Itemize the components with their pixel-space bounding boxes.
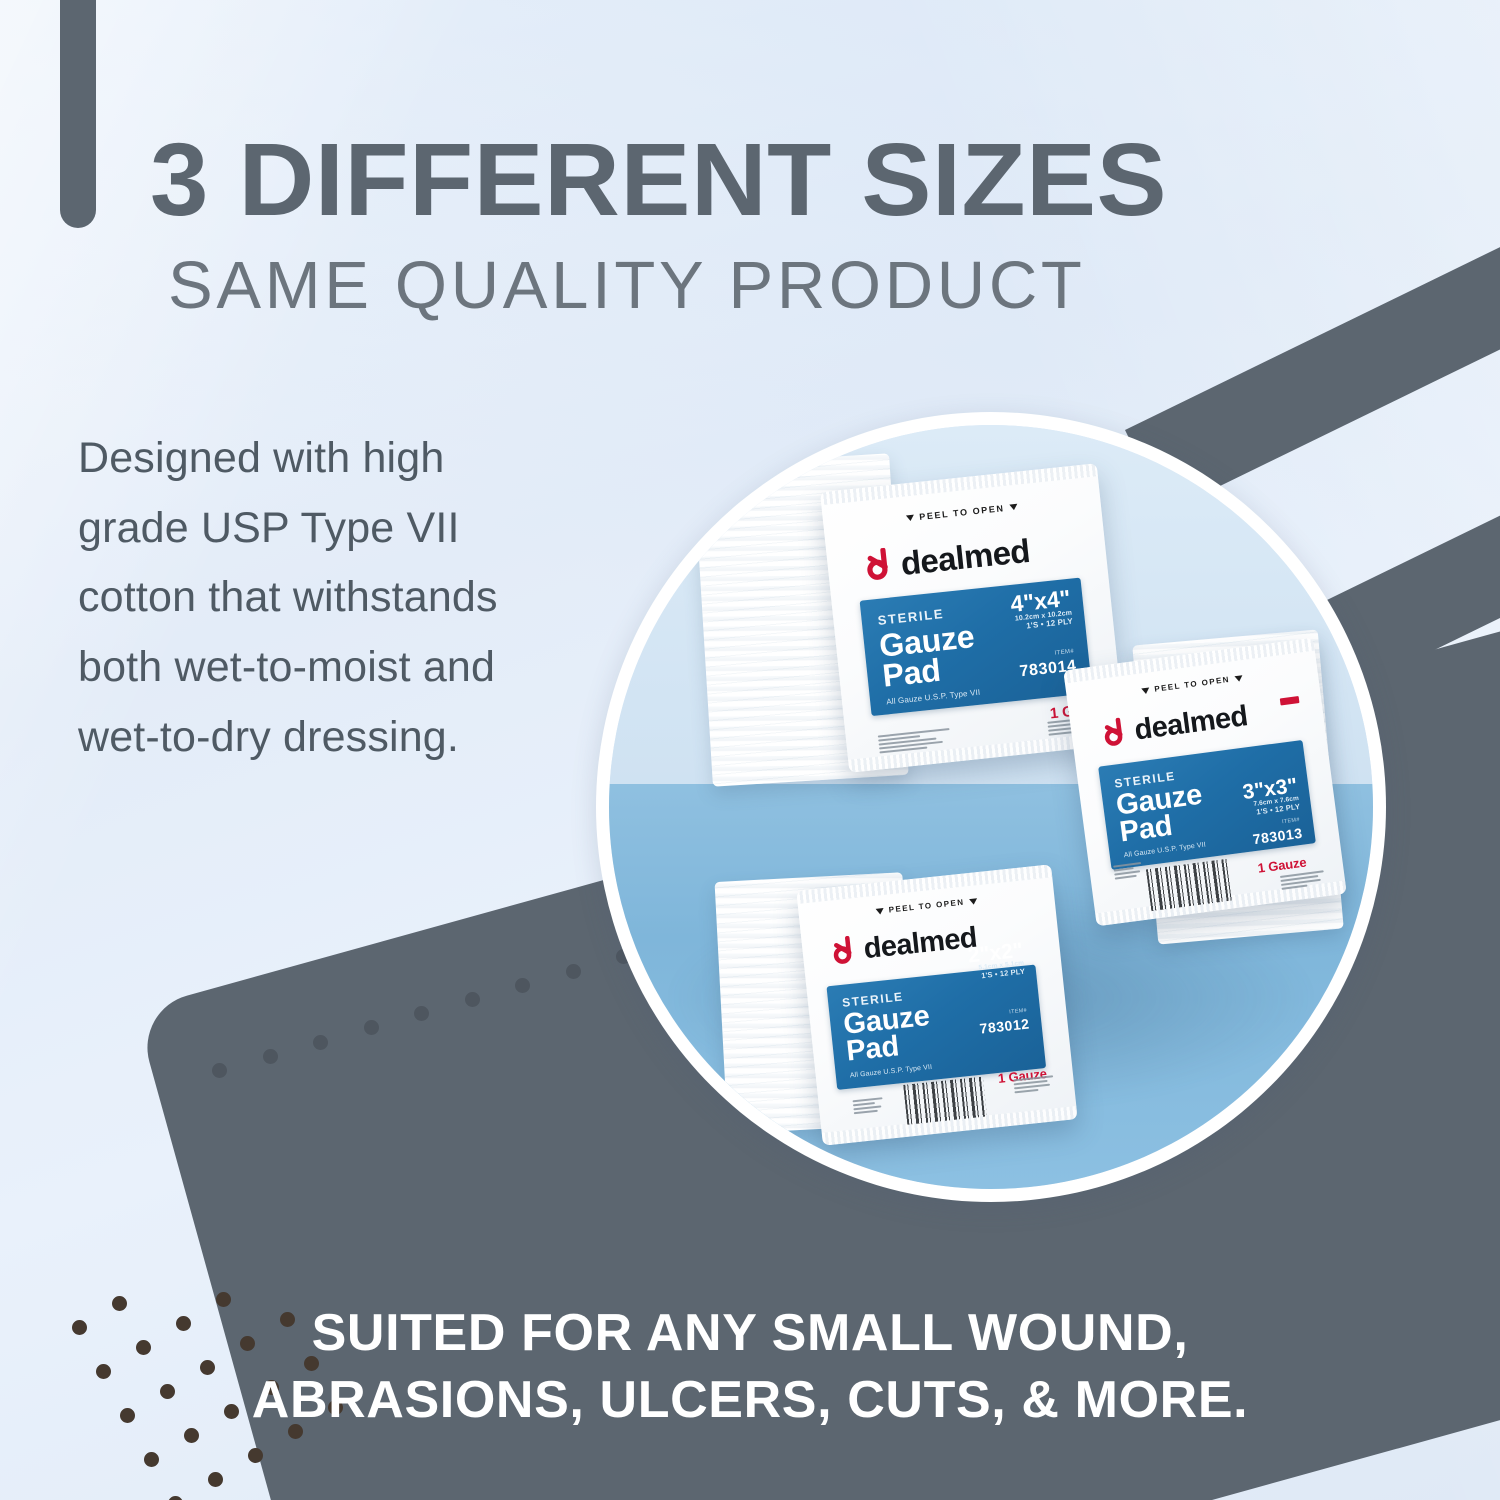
item-caption: ITEM# [1282,817,1300,825]
brand-name: dealmed [899,533,1031,579]
peel-to-open-label: PEEL TO OPEN [919,503,1005,522]
body-paragraph: Designed with high grade USP Type VII co… [78,424,558,772]
page-subtitle: SAME QUALITY PRODUCT [168,252,1086,319]
brand-lockup: dealmed [862,533,1031,584]
decorative-dot [144,1452,159,1467]
decorative-dot [465,992,480,1007]
triangle-icon [969,898,978,905]
dealmed-logo-icon [1100,717,1130,750]
triangle-icon [1141,687,1150,694]
decorative-dot [566,964,581,979]
size-label-group: 2"x2" 5.1cm x 5.1cm 1'S • 12 PLY [967,940,1025,981]
triangle-icon [1234,675,1243,682]
size-label-group: 3"x3" 7.6cm x 7.6cm 1'S • 12 PLY [1241,775,1300,818]
triangle-icon [876,908,885,915]
dealmed-logo-icon [862,547,895,584]
packet-2x2[interactable]: PEEL TO OPEN dealmed STERILE Gauze [796,864,1077,1145]
footer-line-2: ABRASIONS, ULCERS, CUTS, & MORE. [120,1367,1380,1434]
decorative-dot [208,1472,223,1487]
item-caption: ITEM# [1054,649,1074,657]
peel-to-open-label: PEEL TO OPEN [888,898,965,915]
page-title: 3 DIFFERENT SIZES [150,128,1167,231]
brand-name: dealmed [1133,702,1249,746]
item-caption: ITEM# [1009,1008,1027,1016]
manufacturer-microtext [1113,862,1143,880]
decorative-dot [263,1049,278,1064]
packet-label-4x4: STERILE Gauze Pad All Gauze U.S.P. Type … [860,578,1093,717]
product-photo-circle: PEEL TO OPEN dealmed STERILE Gauze [596,412,1386,1202]
footer-callout: SUITED FOR ANY SMALL WOUND, ABRASIONS, U… [0,1300,1500,1433]
dealmed-logo-icon [829,935,858,968]
usage-microtext [1013,1075,1054,1093]
headline-accent-bar [60,0,96,228]
red-tick-mark [1280,696,1300,705]
poster-canvas: 3 DIFFERENT SIZES SAME QUALITY PRODUCT D… [0,0,1500,1500]
triangle-icon [1009,504,1018,511]
manufacturer-microtext [853,1097,884,1114]
product-name-line2: Pad [881,655,942,692]
item-number: 783013 [1252,825,1304,847]
footer-line-1: SUITED FOR ANY SMALL WOUND, [120,1300,1380,1367]
brand-name: dealmed [862,923,978,964]
packet-3x3[interactable]: PEEL TO OPEN dealmed STERILE Gauz [1063,638,1347,927]
circle-scene: PEEL TO OPEN dealmed STERILE Gauze [609,425,1373,1189]
decorative-dot [313,1035,328,1050]
decorative-dot [515,978,530,993]
decorative-dot [364,1020,379,1035]
barcode [903,1077,987,1125]
product-name-line2: Pad [1118,813,1174,847]
peel-to-open-label: PEEL TO OPEN [1154,675,1231,694]
decorative-dot [248,1448,263,1463]
product-name-line2: Pad [845,1033,900,1066]
brand-lockup: dealmed [829,923,978,968]
triangle-icon [906,515,915,522]
decorative-dot [168,1496,183,1500]
brand-lockup: dealmed [1100,701,1249,750]
packet-label-3x3: STERILE Gauze Pad All Gauze U.S.P. Type … [1098,740,1316,870]
usp-type-label: All Gauze U.S.P. Type VII [850,1064,933,1080]
size-label-group: 4"x4" 10.2cm x 10.2cm 1'S • 12 PLY [1009,587,1073,632]
item-number: 783012 [979,1015,1030,1036]
decorative-dot [212,1063,227,1078]
